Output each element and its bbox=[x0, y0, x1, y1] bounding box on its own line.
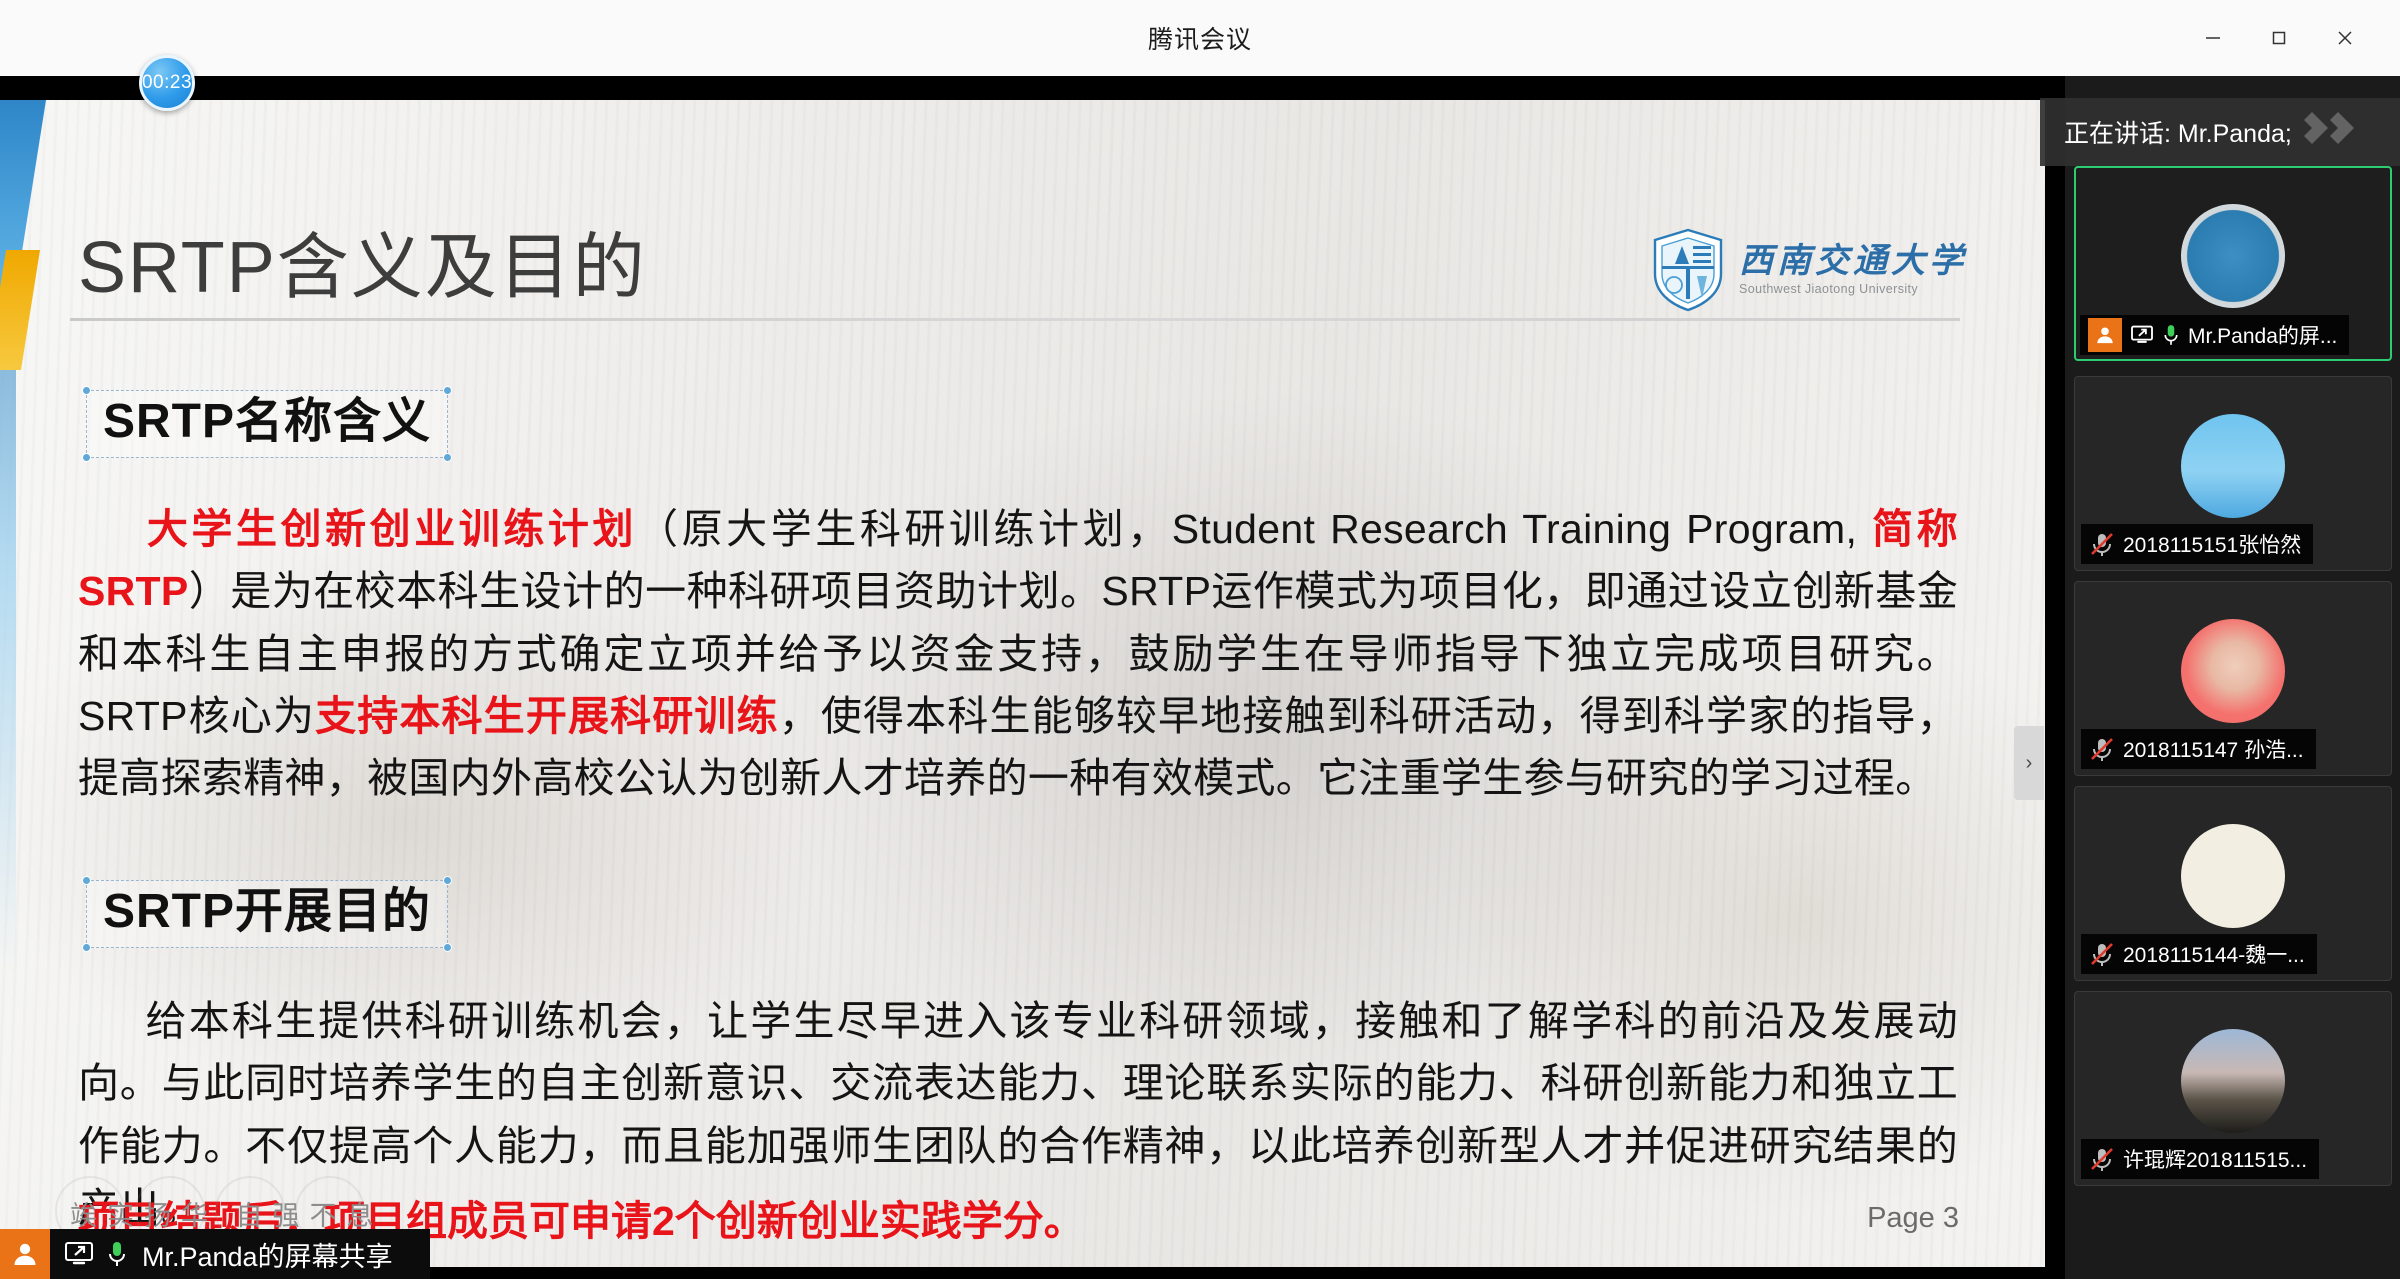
screen-share-icon[interactable] bbox=[64, 1241, 94, 1267]
minimize-icon[interactable] bbox=[2180, 0, 2246, 76]
window-controls bbox=[2180, 0, 2378, 76]
section-2-heading: SRTP开展目的 bbox=[87, 881, 447, 947]
microphone-muted-icon bbox=[2089, 736, 2115, 762]
participant-tile[interactable]: 2018115151张怡然 bbox=[2074, 376, 2392, 571]
presentation-slide: SRTP含义及目的 西南交通大学 Sout bbox=[0, 100, 2045, 1267]
microphone-muted-icon bbox=[2089, 531, 2115, 557]
participant-name: 2018115151张怡然 bbox=[2123, 529, 2301, 559]
participant-tile[interactable]: Mr.Panda的屏... bbox=[2074, 166, 2392, 361]
participant-name: 2018115147 孙浩... bbox=[2123, 734, 2304, 764]
participant-tile[interactable]: 2018115144-魏一... bbox=[2074, 786, 2392, 981]
participant-namebar: 2018115144-魏一... bbox=[2081, 934, 2317, 974]
university-crest-icon bbox=[1651, 228, 1725, 312]
participant-namebar: 2018115147 孙浩... bbox=[2081, 729, 2316, 769]
speaking-now-banner: 正在讲话: Mr.Panda; bbox=[2040, 98, 2400, 166]
resize-handle[interactable] bbox=[443, 876, 452, 885]
meeting-window: 腾讯会议 SRTP含义及目的 bbox=[0, 0, 2400, 1279]
slide-ribbon-decoration bbox=[0, 100, 56, 1267]
participant-namebar: 2018115151张怡然 bbox=[2081, 524, 2313, 564]
participants-rail: Mr.Panda的屏... 2018115151张怡然 bbox=[2065, 76, 2400, 1279]
screen-share-icon bbox=[2130, 325, 2154, 345]
avatar bbox=[2181, 824, 2285, 928]
microphone-muted-icon bbox=[2089, 1146, 2115, 1172]
title-divider bbox=[70, 318, 1960, 321]
section-heading-box-2[interactable]: SRTP开展目的 bbox=[86, 880, 448, 948]
participant-name: 2018115144-魏一... bbox=[2123, 939, 2305, 969]
microphone-icon[interactable] bbox=[106, 1240, 128, 1268]
participant-namebar: Mr.Panda的屏... bbox=[2080, 315, 2349, 355]
avatar bbox=[2181, 1029, 2285, 1133]
avatar bbox=[2181, 204, 2285, 308]
close-icon[interactable] bbox=[2312, 0, 2378, 76]
slide-title: SRTP含义及目的 bbox=[78, 208, 647, 313]
collapse-panel-arrow-icon[interactable]: › bbox=[2014, 726, 2044, 800]
university-name-cn: 西南交通大学 bbox=[1739, 244, 1967, 280]
window-titlebar: 腾讯会议 bbox=[0, 0, 2400, 76]
share-status-icons bbox=[64, 1240, 128, 1268]
resize-handle[interactable] bbox=[82, 876, 91, 885]
section-1-red-lead: 大学生创新创业训练计划 bbox=[144, 506, 637, 552]
speaking-now-label: 正在讲话: Mr.Panda; bbox=[2064, 114, 2292, 150]
shared-screen-stage: SRTP含义及目的 西南交通大学 Sout bbox=[0, 76, 2065, 1279]
participant-name: 许琨辉201811515... bbox=[2123, 1144, 2307, 1174]
window-title: 腾讯会议 bbox=[1148, 20, 1252, 56]
section-1-heading: SRTP名称含义 bbox=[87, 391, 447, 457]
section-1-body: 大学生创新创业训练计划（原大学生科研训练计划，Student Research … bbox=[78, 498, 1958, 810]
share-taskbar-label: Mr.Panda的屏幕共享 bbox=[142, 1235, 393, 1274]
meeting-timer-badge[interactable]: 00:23 bbox=[139, 55, 195, 111]
share-taskbar: Mr.Panda的屏幕共享 bbox=[0, 1229, 430, 1279]
section-1-body-part1: （原大学生科研训练计划，Student Research Training Pr… bbox=[637, 506, 1872, 552]
resize-handle[interactable] bbox=[82, 386, 91, 395]
section-1-red-inline-2: 支持本科生开展科研训练 bbox=[315, 693, 779, 739]
section-heading-box-1[interactable]: SRTP名称含义 bbox=[86, 390, 448, 458]
microphone-muted-icon bbox=[2089, 941, 2115, 967]
user-icon bbox=[2088, 318, 2122, 352]
participant-namebar: 许琨辉201811515... bbox=[2081, 1139, 2319, 1179]
maximize-icon[interactable] bbox=[2246, 0, 2312, 76]
participant-tile[interactable]: 2018115147 孙浩... bbox=[2074, 581, 2392, 776]
chevron-decoration-icon bbox=[2302, 104, 2372, 160]
participant-name: Mr.Panda的屏... bbox=[2188, 320, 2337, 350]
university-name-en: Southwest Jiaotong University bbox=[1739, 282, 1967, 296]
university-logo: 西南交通大学 Southwest Jiaotong University bbox=[1651, 228, 1967, 312]
slide-footer-motto: 竢实扬华 自强不息 bbox=[70, 1194, 384, 1233]
slide-page-number: Page 3 bbox=[1867, 1202, 1959, 1235]
avatar bbox=[2181, 414, 2285, 518]
participant-tile[interactable]: 许琨辉201811515... bbox=[2074, 991, 2392, 1186]
microphone-icon bbox=[2162, 323, 2180, 347]
resize-handle[interactable] bbox=[443, 386, 452, 395]
avatar bbox=[2181, 619, 2285, 723]
user-icon bbox=[0, 1229, 50, 1279]
